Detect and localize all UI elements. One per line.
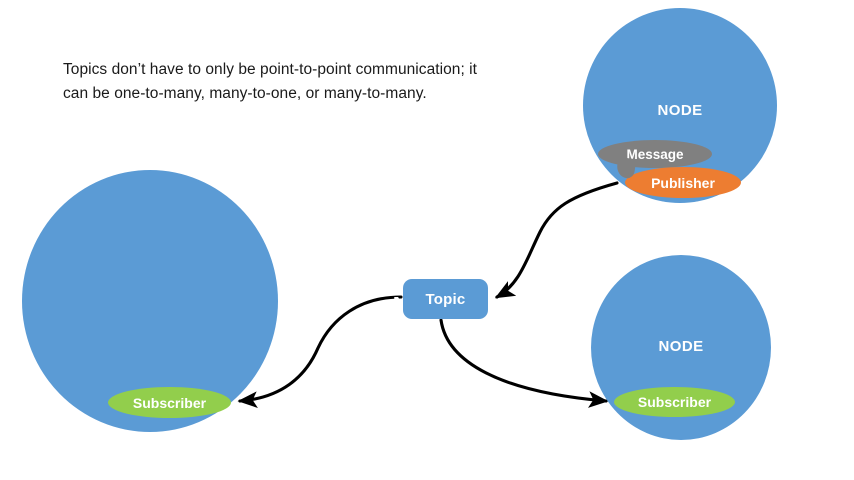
subscriber-pill-left[interactable]: Subscriber [108, 387, 231, 418]
caption-text: Topics don’t have to only be point-to-po… [63, 58, 483, 106]
topic-box[interactable]: Topic [403, 279, 488, 319]
node-label-bottom-right: NODE [591, 338, 771, 355]
subscriber-pill-right[interactable]: Subscriber [614, 387, 735, 417]
arrow-publisher-to-topic [497, 183, 617, 297]
node-label-top-right: NODE [583, 102, 777, 119]
arrow-topic-to-bottom-right-subscriber [441, 320, 606, 401]
publisher-pill[interactable]: Publisher [625, 167, 741, 198]
diagram-canvas: Topics don’t have to only be point-to-po… [0, 0, 854, 480]
message-bubble[interactable]: Message [598, 140, 712, 168]
